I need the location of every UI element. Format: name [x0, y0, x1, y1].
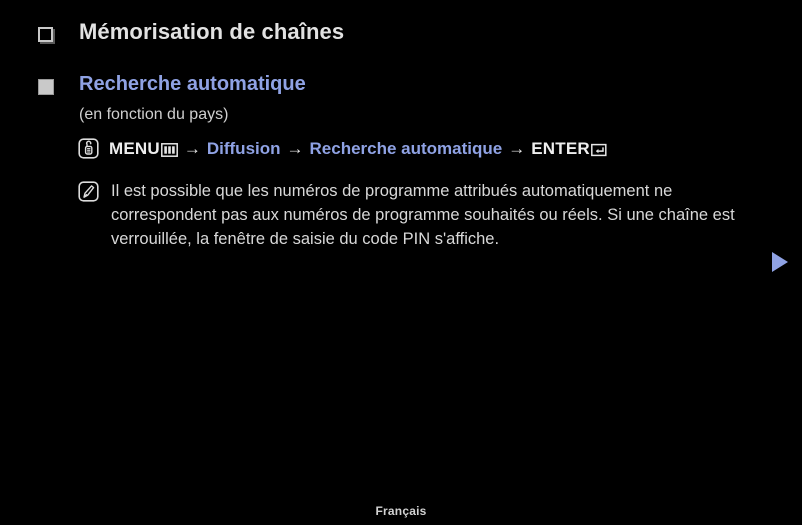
chapter-heading: Mémorisation de chaînes [38, 18, 344, 46]
topic-title: Recherche automatique [79, 72, 306, 97]
hollow-square-icon [38, 27, 53, 42]
path-arrow-3: → [502, 139, 531, 159]
play-triangle-right-icon [770, 251, 790, 273]
path-arrow-2: → [281, 139, 310, 159]
next-page-button[interactable] [770, 251, 790, 273]
remote-hand-icon [78, 138, 99, 159]
path-arrow-1: → [178, 139, 207, 159]
note-text: Il est possible que les numéros de progr… [111, 179, 761, 251]
path-link-recherche-automatique[interactable]: Recherche automatique [310, 139, 503, 159]
enter-key-label: ENTER [531, 139, 590, 159]
menu-path-text: MENU → Diffusion → Recherche automatique… [109, 139, 609, 159]
menu-key-label: MENU [109, 139, 160, 159]
enter-return-icon [591, 143, 609, 157]
chapter-title: Mémorisation de chaînes [79, 18, 344, 46]
emanual-page: Mémorisation de chaînes Recherche automa… [0, 0, 802, 525]
note-block: Il est possible que les numéros de progr… [78, 179, 768, 251]
path-link-diffusion[interactable]: Diffusion [207, 139, 281, 159]
footer-language: Français [0, 504, 802, 518]
menu-grid-icon [161, 143, 178, 157]
menu-path: MENU → Diffusion → Recherche automatique… [78, 138, 609, 159]
filled-square-icon [38, 79, 54, 95]
note-pencil-icon [78, 181, 99, 202]
topic-subtitle: (en fonction du pays) [79, 106, 228, 124]
topic-heading[interactable]: Recherche automatique [38, 72, 306, 97]
